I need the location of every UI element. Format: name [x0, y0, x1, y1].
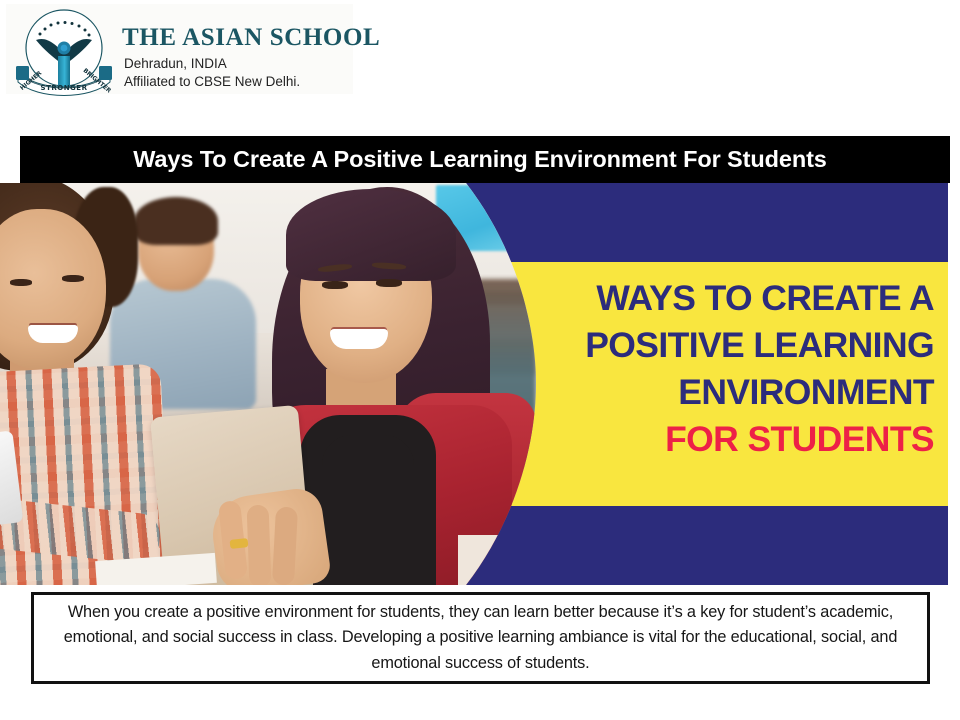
headline-line-4: FOR STUDENTS — [514, 416, 934, 463]
caption-box: When you create a positive environment f… — [31, 592, 930, 684]
school-name: THE ASIAN SCHOOL — [122, 24, 380, 52]
hero-banner: WAYS TO CREATE A POSITIVE LEARNING ENVIR… — [0, 183, 948, 585]
article-title: Ways To Create A Positive Learning Envir… — [133, 146, 827, 173]
teacher-and-student-photo — [0, 183, 536, 585]
article-title-bar: Ways To Create A Positive Learning Envir… — [20, 136, 950, 183]
asian-school-crest-logo-icon: STRONGER HIGHER BRIGHTER — [14, 6, 114, 100]
headline-line-1: WAYS TO CREATE A — [514, 275, 934, 322]
caption-text: When you create a positive environment f… — [50, 600, 912, 677]
school-affiliation: Affiliated to CBSE New Delhi. — [124, 74, 300, 89]
headline-line-2: POSITIVE LEARNING — [514, 322, 934, 369]
svg-text:STRONGER: STRONGER — [41, 84, 88, 92]
banner-headline: WAYS TO CREATE A POSITIVE LEARNING ENVIR… — [514, 275, 934, 463]
page-header: STRONGER HIGHER BRIGHTER THE ASIAN SCHOO… — [0, 0, 960, 118]
school-city: Dehradun, INDIA — [124, 56, 227, 71]
school-logo-panel: STRONGER HIGHER BRIGHTER THE ASIAN SCHOO… — [6, 4, 353, 94]
headline-line-3: ENVIRONMENT — [514, 369, 934, 416]
